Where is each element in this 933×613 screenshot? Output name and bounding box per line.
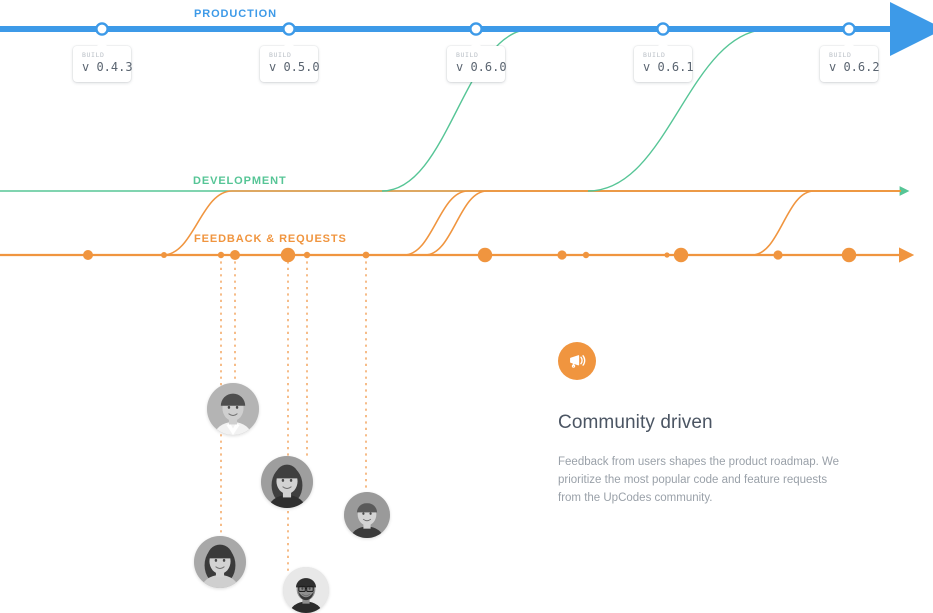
feedback-request-dot-13[interactable] (773, 250, 782, 259)
build-badge-version: v 0.6.1 (643, 60, 692, 74)
build-badge-label: BUILD (82, 51, 131, 59)
production-milestone-node-1[interactable] (96, 23, 107, 34)
feedback-request-dot-11[interactable] (664, 252, 669, 257)
avatar-smiling-man-suit[interactable] (207, 383, 259, 435)
production-milestone-node-2[interactable] (283, 23, 294, 34)
feedback-request-dot-12[interactable] (674, 248, 688, 262)
build-badge-label: BUILD (456, 51, 505, 59)
feedback-request-dot-10[interactable] (583, 252, 589, 258)
build-badge-1[interactable]: BUILDv 0.4.3 (73, 46, 131, 82)
track-label-development: DEVELOPMENT (193, 175, 287, 187)
build-badge-3[interactable]: BUILDv 0.6.0 (447, 46, 505, 82)
feedback-request-dot-7[interactable] (363, 252, 370, 259)
production-milestone-node-4[interactable] (657, 23, 668, 34)
avatar-man-glasses-beard[interactable] (283, 567, 329, 613)
build-badge-version: v 0.4.3 (82, 60, 131, 74)
feedback-to-development-riser-4 (752, 191, 814, 255)
timeline-graphic (0, 0, 933, 605)
build-badge-version: v 0.5.0 (269, 60, 318, 74)
avatar-woman-dark-hair[interactable] (261, 456, 313, 508)
feedback-request-dot-4[interactable] (230, 250, 240, 260)
feedback-to-development-riser-2 (404, 191, 468, 255)
track-label-feedback: FEEDBACK & REQUESTS (194, 233, 347, 245)
track-label-production: PRODUCTION (194, 8, 277, 20)
avatar-woman-long-hair[interactable] (194, 536, 246, 588)
build-badge-version: v 0.6.2 (829, 60, 878, 74)
build-badge-label: BUILD (643, 51, 692, 59)
feedback-request-dot-5[interactable] (281, 248, 295, 262)
development-to-production-risers (382, 29, 770, 191)
feedback-request-dot-14[interactable] (842, 248, 856, 262)
megaphone-icon (558, 342, 596, 380)
production-milestone-node-3[interactable] (470, 23, 481, 34)
feedback-request-dot-1[interactable] (83, 250, 93, 260)
roadmap-timeline-stage: PRODUCTION DEVELOPMENT FEEDBACK & REQUES… (0, 0, 933, 605)
avatar-young-man[interactable] (344, 492, 390, 538)
feedback-request-dot-6[interactable] (304, 252, 310, 258)
panel-heading: Community driven (558, 411, 858, 435)
build-badge-5[interactable]: BUILDv 0.6.2 (820, 46, 878, 82)
feedback-request-dot-8[interactable] (478, 248, 492, 262)
build-badge-version: v 0.6.0 (456, 60, 505, 74)
build-badge-label: BUILD (829, 51, 878, 59)
production-milestone-node-5[interactable] (843, 23, 854, 34)
feedback-request-dot-2[interactable] (161, 252, 167, 258)
community-driven-panel: Community driven Feedback from users sha… (558, 342, 858, 507)
feedback-request-dot-3[interactable] (218, 252, 224, 258)
build-badge-label: BUILD (269, 51, 318, 59)
feedback-to-development-riser-3 (425, 191, 487, 255)
feedback-to-development-riser-1 (163, 191, 232, 255)
feedback-request-dot-9[interactable] (557, 250, 566, 259)
feedback-to-development-risers (163, 191, 901, 255)
build-badge-4[interactable]: BUILDv 0.6.1 (634, 46, 692, 82)
build-badge-2[interactable]: BUILDv 0.5.0 (260, 46, 318, 82)
panel-body-text: Feedback from users shapes the product r… (558, 453, 851, 507)
